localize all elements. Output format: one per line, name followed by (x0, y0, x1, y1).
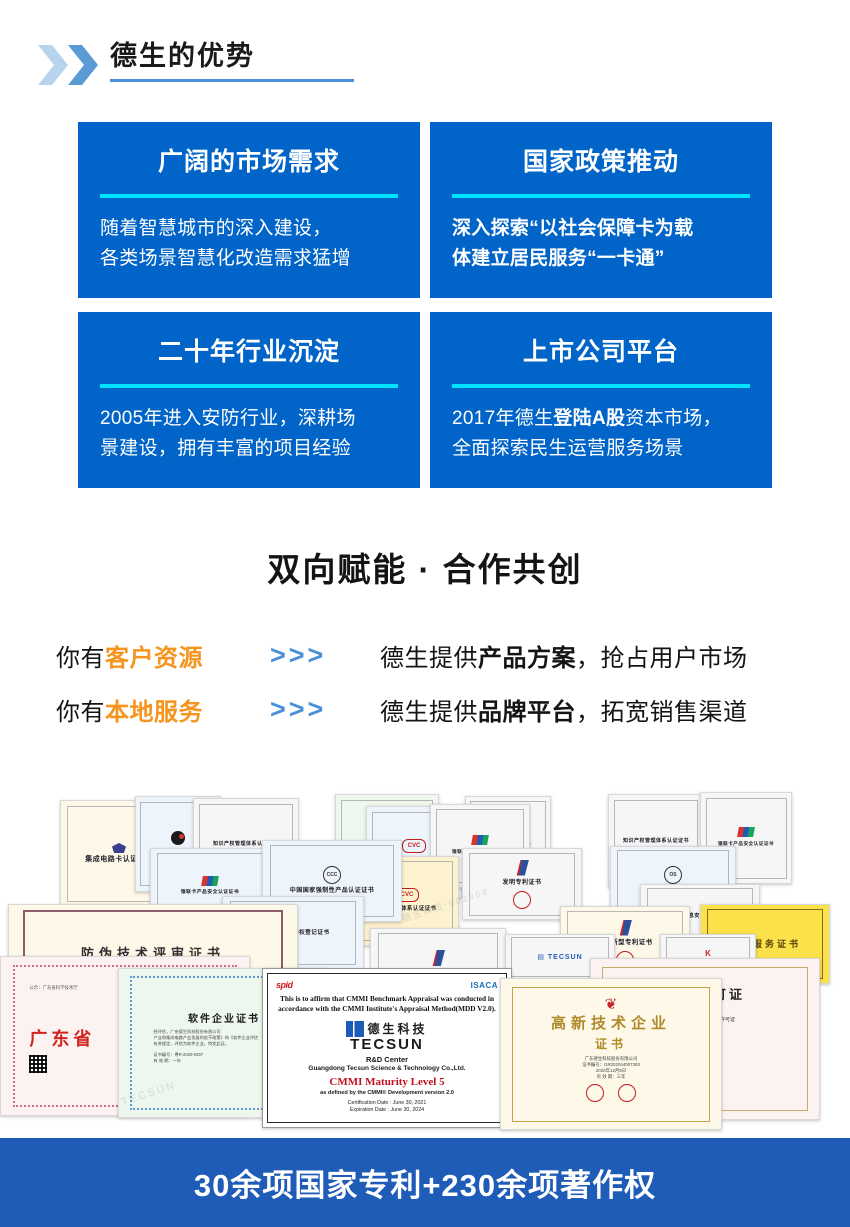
osca-logo-icon: OS (664, 866, 682, 884)
card-title: 国家政策推动 (452, 146, 750, 178)
unionpay-logo-icon (737, 827, 755, 837)
tecsun-brand-cn: 德生科技 (367, 1020, 427, 1037)
spid-logo-icon: spid (276, 980, 293, 990)
certificate-title: 软件企业证书 (188, 1010, 260, 1025)
synergy-rows: 你有客户资源 >>> 德生提供产品方案，抢占用户市场 你有本地服务 >>> 德生… (0, 628, 850, 736)
advantage-card-national-policy: 国家政策推动 深入探索“以社会保障卡为载 体建立居民服务“一卡通” (430, 122, 772, 298)
certificate-hi-tech-enterprise: ❦ 高新技术企业 证书 广东德生科技股份有限公司 证书编号：GR20204400… (500, 978, 722, 1130)
patent-logo-icon (618, 920, 632, 936)
red-seal-icon (618, 1084, 636, 1102)
card-divider (452, 384, 750, 388)
cmmi-affirm-line: This is to affirm that CMMI Benchmark Ap… (278, 994, 496, 1004)
synergy-left: 你有本地服务 (56, 692, 270, 727)
tecsun-logo-icon: ▤ TECSUN (537, 953, 582, 961)
cvc-logo-icon: CVC (402, 839, 426, 853)
card-body-line: 景建设，拥有丰富的项目经验 (100, 434, 398, 464)
patent-logo-icon (431, 950, 445, 966)
synergy-right-suffix: ，抢占用户市场 (576, 645, 748, 672)
card-body-line: 2005年进入安防行业，深耕场 (100, 404, 398, 434)
cefred-logo-icon (171, 831, 185, 845)
page-title-block: 德生的优势 (110, 38, 360, 82)
card-body-line: 2017年德生登陆A股资本市场， (452, 404, 750, 434)
card-body: 深入探索“以社会保障卡为载 体建立居民服务“一卡通” (452, 214, 750, 274)
unionpay-logo-icon (201, 876, 219, 886)
card-body-line: 体建立居民服务“一卡通” (452, 244, 750, 274)
synergy-heading: 双向赋能 · 合作共创 (0, 543, 850, 591)
advantage-card-industry-experience: 二十年行业沉淀 2005年进入安防行业，深耕场 景建设，拥有丰富的项目经验 (78, 312, 420, 488)
section-header: 德生的优势 (0, 0, 850, 110)
flame-emblem-icon: ❦ (605, 998, 618, 1012)
certificate-title: 广东省 (29, 1025, 95, 1051)
seal-row (586, 1084, 636, 1102)
cmmi-certification-date: Certification Date : June 30, 2021 (348, 1100, 427, 1107)
kingsoft-logo-icon: K (705, 949, 711, 958)
card-body: 2005年进入安防行业，深耕场 景建设，拥有丰富的项目经验 (100, 404, 398, 464)
advantage-card-listed-company: 上市公司平台 2017年德生登陆A股资本市场， 全面探索民生运营服务场景 (430, 312, 772, 488)
red-seal-icon (586, 1084, 604, 1102)
certificate-collage: 集成电路卡认证证书 质量管理体系认证书 知识产权管理体系认证证书 CVC 环境管… (0, 788, 850, 1138)
certificate-meta-line: 有 效 期：一年 (154, 1058, 259, 1064)
tecsun-logo-icon (346, 1021, 364, 1037)
certificate-number: 证书编号：GR202044007283 (582, 1062, 640, 1068)
advantage-card-grid: 广阔的市场需求 随着智慧城市的深入建设， 各类场景智慧化改造需求猛增 国家政策推… (78, 122, 772, 488)
synergy-left: 你有客户资源 (56, 638, 270, 673)
chevron-right-icon-light (36, 44, 70, 86)
certificate-company: 广东德生科技股份有限公司 (582, 1056, 640, 1062)
card-body: 随着智慧城市的深入建设， 各类场景智慧化改造需求猛增 (100, 214, 398, 274)
banner-text: 30余项国家专利+230余项著作权 (194, 1160, 656, 1205)
certificate-title: 中国国家强制性产品认证证书 (290, 886, 375, 896)
card-body-line: 全面探索民生运营服务场景 (452, 434, 750, 464)
chevron-right-icon-dark (66, 44, 100, 86)
cmmi-affirm-line: accordance with the CMMI Institute's App… (278, 1004, 496, 1014)
arrows-right-icon: >>> (270, 642, 380, 669)
synergy-right-suffix: ，拓宽销售渠道 (576, 699, 748, 726)
card-title: 上市公司平台 (452, 336, 750, 368)
tecsun-brand-lockup: 德生科技 (346, 1020, 427, 1037)
advantage-card-market-demand: 广阔的市场需求 随着智慧城市的深入建设， 各类场景智慧化改造需求猛增 (78, 122, 420, 298)
cmmi-logos: spid ISACA (276, 980, 498, 990)
card-divider (100, 384, 398, 388)
synergy-right: 德生提供品牌平台，拓宽销售渠道 (380, 692, 748, 727)
certificate-meta: 广东德生科技股份有限公司 证书编号：GR202044007283 2020年12… (582, 1056, 640, 1080)
card-body-line: 随着智慧城市的深入建设， (100, 214, 398, 244)
synergy-left-highlight: 本地服务 (105, 699, 203, 726)
synergy-left-highlight: 客户资源 (105, 645, 203, 672)
card-body-line: 深入探索“以社会保障卡为载 (452, 214, 750, 244)
cmmi-rd-center: R&D Center (366, 1055, 408, 1064)
synergy-right-emphasis: 品牌平台 (478, 699, 576, 726)
certificate-meta: 公示：广东省科学技术厅 (29, 985, 77, 991)
chevron-double-right-icon (36, 44, 106, 86)
synergy-right-emphasis: 产品方案 (478, 645, 576, 672)
card-title: 二十年行业沉淀 (100, 336, 398, 368)
cmmi-defined-by: as defined by the CMMI® Development vers… (320, 1090, 454, 1096)
synergy-row-local-service: 你有本地服务 >>> 德生提供品牌平台，拓宽销售渠道 (0, 682, 850, 736)
certificate-body: ❦ 高新技术企业 证书 广东德生科技股份有限公司 证书编号：GR20204400… (512, 987, 710, 1122)
card-title: 广阔的市场需求 (100, 146, 398, 178)
certificate-meta: 经评估，广东德生科技股份有限公司 产业和集成电路产业发展的若干政策》和《软件企业… (154, 1029, 259, 1064)
cmmi-dates: Certification Date : June 30, 2021 Expir… (348, 1100, 427, 1114)
synergy-left-prefix: 你有 (56, 699, 105, 726)
certificate-title: 发明专利证书 (502, 878, 541, 888)
card-body-line: 各类场景智慧化改造需求猛增 (100, 244, 398, 274)
unionpay-logo-icon (471, 835, 489, 845)
synergy-row-customer-resources: 你有客户资源 >>> 德生提供产品方案，抢占用户市场 (0, 628, 850, 682)
isaca-logo-icon: ISACA (471, 981, 498, 990)
synergy-right-prefix: 德生提供 (380, 645, 478, 672)
cmmi-company: Guangdong Tecsun Science & Technology Co… (308, 1065, 465, 1072)
certificate-title: 知识产权管理体系认证证书 (623, 836, 689, 846)
card-body-emphasis: 登陆A股 (553, 408, 625, 429)
certificate-title: 高新技术企业 (551, 1012, 671, 1033)
cmmi-affirmation: This is to affirm that CMMI Benchmark Ap… (278, 994, 496, 1014)
page-title: 德生的优势 (110, 38, 360, 74)
patent-logo-icon (515, 860, 529, 876)
synergy-right: 德生提供产品方案，抢占用户市场 (380, 638, 748, 673)
synergy-right-prefix: 德生提供 (380, 699, 478, 726)
red-seal-icon (513, 891, 531, 909)
card-body-text: 2017年德生 (452, 408, 553, 429)
cmmi-expiration-date: Expiration Date : June 30, 2024 (348, 1107, 427, 1114)
certificate-cmmi: spid ISACA This is to affirm that CMMI B… (262, 968, 512, 1128)
certificate-meta-line: 有关规定，评估为软件企业，特发此证。 (154, 1041, 259, 1047)
certificate-subtitle: 证书 (595, 1035, 627, 1052)
synergy-left-prefix: 你有 (56, 645, 105, 672)
qr-code-icon (29, 1055, 47, 1073)
cmmi-maturity-level: CMMI Maturity Level 5 (329, 1076, 444, 1088)
card-body-text: 资本市场， (625, 408, 722, 429)
certificate-body: spid ISACA This is to affirm that CMMI B… (267, 973, 507, 1123)
patent-count-banner: 30余项国家专利+230余项著作权 (0, 1138, 850, 1227)
card-divider (452, 194, 750, 198)
title-underline (110, 79, 354, 82)
tecsun-brand-en: TECSUN (350, 1037, 424, 1052)
icbr-logo-icon (112, 843, 126, 853)
certificate-validity: 有 效 期：三年 (582, 1074, 640, 1080)
ccc-logo-icon: CCC (323, 866, 341, 884)
card-divider (100, 194, 398, 198)
arrows-right-icon: >>> (270, 696, 380, 723)
card-body: 2017年德生登陆A股资本市场， 全面探索民生运营服务场景 (452, 404, 750, 464)
